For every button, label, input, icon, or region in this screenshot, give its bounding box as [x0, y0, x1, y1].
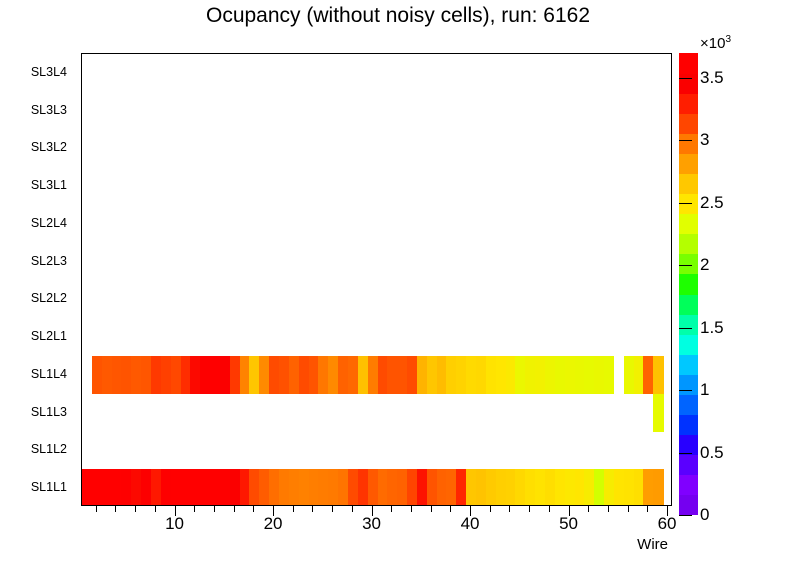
heatmap-cell	[515, 356, 525, 394]
heatmap-cell	[220, 356, 230, 394]
heatmap-cell	[496, 356, 506, 394]
heatmap-cell	[151, 469, 161, 505]
heatmap-cell	[220, 469, 230, 505]
heatmap-cell	[545, 356, 555, 394]
colorbar-segment	[679, 53, 698, 74]
heatmap-cell	[604, 356, 614, 394]
heatmap-cell	[348, 356, 358, 394]
colorbar-tick-label: 0	[700, 505, 709, 525]
heatmap-cell	[200, 356, 210, 394]
heatmap-cell	[269, 469, 279, 505]
x-axis-tick	[332, 506, 333, 512]
heatmap-cell	[446, 469, 456, 505]
x-axis-tick	[214, 506, 215, 512]
colorbar-segment	[679, 354, 698, 375]
x-axis-tick	[628, 506, 629, 512]
heatmap-plot-area	[82, 54, 671, 505]
x-axis-tick	[96, 506, 97, 512]
x-axis-tick	[549, 506, 550, 512]
colorbar-tick	[679, 203, 692, 204]
colorbar-tick	[679, 265, 692, 266]
colorbar-segment	[679, 294, 698, 315]
colorbar-segment	[679, 174, 698, 195]
y-axis-label-sl1l2: SL1L2	[31, 442, 67, 456]
heatmap-cell	[200, 469, 210, 505]
colorbar-segment	[679, 455, 698, 476]
heatmap-cell	[102, 469, 112, 505]
colorbar-tick	[679, 78, 692, 79]
colorbar-tick-label: 0.5	[700, 443, 724, 463]
heatmap-cell	[594, 469, 604, 505]
heatmap-cell	[102, 356, 112, 394]
colorbar-tick	[679, 140, 692, 141]
heatmap-cell	[417, 356, 427, 394]
colorbar-multiplier: ×103	[700, 34, 731, 52]
x-axis-title: Wire	[0, 536, 672, 553]
heatmap-cell	[348, 469, 358, 505]
y-axis-label-sl3l3: SL3L3	[31, 103, 67, 117]
colorbar-multiplier-base: ×10	[700, 35, 725, 52]
x-axis-tick	[135, 506, 136, 512]
colorbar-tick-label: 3	[700, 130, 709, 150]
page-title: Ocupancy (without noisy cells), run: 616…	[0, 4, 796, 28]
colorbar-segment	[679, 415, 698, 436]
colorbar-segment	[679, 334, 698, 355]
colorbar-tick	[679, 515, 692, 516]
x-axis-tick-label-10: 10	[165, 514, 184, 534]
heatmap-cell	[653, 356, 663, 394]
colorbar-segment	[679, 214, 698, 235]
heatmap-cell	[614, 469, 624, 505]
colorbar-segment	[679, 153, 698, 174]
heatmap-cell	[151, 356, 161, 394]
x-axis-tick	[312, 506, 313, 512]
heatmap-cell	[496, 469, 506, 505]
x-axis-tick	[529, 506, 530, 512]
x-axis-tick	[431, 506, 432, 512]
x-axis-tick	[352, 506, 353, 512]
y-axis-label-sl1l3: SL1L3	[31, 405, 67, 419]
colorbar-tick-label: 1	[700, 380, 709, 400]
x-axis-tick	[411, 506, 412, 512]
colorbar-tick	[679, 328, 692, 329]
x-axis-tick	[234, 506, 235, 512]
plot-frame	[81, 53, 672, 506]
heatmap-cell	[318, 356, 328, 394]
x-axis-tick	[450, 506, 451, 512]
x-axis-tick-label-60: 60	[658, 514, 677, 534]
y-axis-label-sl2l3: SL2L3	[31, 254, 67, 268]
y-axis-label-sl1l1: SL1L1	[31, 480, 67, 494]
colorbar-segment	[679, 274, 698, 295]
heatmap-cell	[446, 356, 456, 394]
heatmap-cell	[397, 469, 407, 505]
x-axis-tick	[293, 506, 294, 512]
heatmap-cell	[643, 469, 653, 505]
y-axis-label-sl2l2: SL2L2	[31, 291, 67, 305]
x-axis-tick	[194, 506, 195, 512]
colorbar-segment	[679, 374, 698, 395]
x-axis-tick-label-50: 50	[559, 514, 578, 534]
colorbar-segment	[679, 113, 698, 134]
heatmap-cell	[565, 356, 575, 394]
heatmap-cell	[397, 356, 407, 394]
heatmap-cell	[299, 469, 309, 505]
root-canvas: Ocupancy (without noisy cells), run: 616…	[0, 0, 796, 572]
heatmap-cell	[368, 469, 378, 505]
x-axis-tick-label-20: 20	[264, 514, 283, 534]
colorbar	[679, 53, 698, 515]
heatmap-cell	[171, 356, 181, 394]
colorbar-tick-label: 2.5	[700, 193, 724, 213]
colorbar-segment	[679, 234, 698, 255]
y-axis-labels: SL1L1SL1L2SL1L3SL1L4SL2L1SL2L2SL2L3SL2L4…	[0, 53, 75, 506]
colorbar-segment	[679, 73, 698, 94]
y-axis-label-sl3l2: SL3L2	[31, 140, 67, 154]
x-axis-tick	[155, 506, 156, 512]
x-axis-tick	[490, 506, 491, 512]
colorbar-segment	[679, 93, 698, 114]
heatmap-cell	[515, 469, 525, 505]
colorbar-segment	[679, 314, 698, 335]
heatmap-cell	[466, 356, 476, 394]
x-axis-tick	[509, 506, 510, 512]
heatmap-cell	[121, 356, 131, 394]
x-axis-tick	[391, 506, 392, 512]
heatmap-cell	[249, 469, 259, 505]
heatmap-cell	[368, 356, 378, 394]
colorbar-segment	[679, 254, 698, 275]
x-axis-tick	[588, 506, 589, 512]
x-axis-tick-label-40: 40	[461, 514, 480, 534]
colorbar-segment	[679, 475, 698, 496]
colorbar-tick-label: 2	[700, 255, 709, 275]
x-axis-tick	[253, 506, 254, 512]
colorbar-tick	[679, 453, 692, 454]
colorbar-multiplier-exponent: 3	[725, 34, 731, 45]
heatmap-cell	[171, 469, 181, 505]
heatmap-cell	[466, 469, 476, 505]
x-axis-tick-label-30: 30	[362, 514, 381, 534]
colorbar-tick	[679, 390, 692, 391]
heatmap-cell	[545, 469, 555, 505]
heatmap-cell	[318, 469, 328, 505]
colorbar-segment	[679, 194, 698, 215]
heatmap-cell	[653, 469, 663, 505]
heatmap-cell	[121, 469, 131, 505]
x-axis-tick	[608, 506, 609, 512]
heatmap-cell	[417, 469, 427, 505]
colorbar-segment	[679, 133, 698, 154]
heatmap-cell	[594, 356, 604, 394]
y-axis-label-sl3l1: SL3L1	[31, 178, 67, 192]
x-axis-tick	[647, 506, 648, 512]
y-axis-label-sl2l4: SL2L4	[31, 216, 67, 230]
y-axis-label-sl1l4: SL1L4	[31, 367, 67, 381]
x-axis-tick	[115, 506, 116, 512]
y-axis-label-sl2l1: SL2L1	[31, 329, 67, 343]
colorbar-tick-label: 3.5	[700, 68, 724, 88]
colorbar-segment	[679, 495, 698, 516]
colorbar-segment	[679, 394, 698, 415]
heatmap-cell	[653, 394, 663, 432]
heatmap-cell	[249, 356, 259, 394]
heatmap-cell	[299, 356, 309, 394]
colorbar-tick-label: 1.5	[700, 318, 724, 338]
heatmap-cell	[269, 356, 279, 394]
heatmap-cell	[643, 356, 653, 394]
y-axis-label-sl3l4: SL3L4	[31, 65, 67, 79]
heatmap-cell	[565, 469, 575, 505]
